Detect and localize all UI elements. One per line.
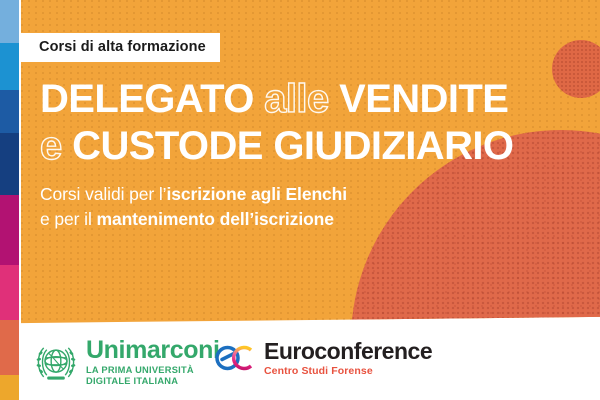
subtitle-line-2-bold: mantenimento dell’iscrizione: [97, 209, 334, 229]
logo-footer: Unimarconi LA PRIMA UNIVERSITÀ DIGITALE …: [0, 326, 600, 400]
unimarconi-wordmark: Unimarconi LA PRIMA UNIVERSITÀ DIGITALE …: [86, 338, 220, 387]
euroconference-ec-mark-icon: [214, 343, 256, 373]
headline-word-vendite: VENDITE: [339, 77, 508, 121]
unimarconi-tagline-line-1: LA PRIMA UNIVERSITÀ: [86, 366, 220, 375]
left-color-strip: [0, 0, 19, 400]
color-band-blue: [0, 43, 19, 90]
color-band-light-blue: [0, 0, 19, 43]
unimarconi-name: Unimarconi: [86, 338, 220, 363]
euroconference-tagline: Centro Studi Forense: [264, 366, 432, 377]
headline: DELEGATO alle VENDITE e CUSTODE GIUDIZIA…: [40, 76, 580, 170]
euroconference-name: Euroconference: [264, 340, 432, 363]
color-band-navy: [0, 133, 19, 195]
headline-word-delegato: DELEGATO: [40, 77, 254, 121]
subtitle-line-1: Corsi validi per l’iscrizione agli Elenc…: [40, 182, 510, 207]
subtitle-line-1-bold: iscrizione agli Elenchi: [166, 184, 347, 204]
category-badge: Corsi di alta formazione: [21, 33, 220, 62]
subtitle-line-2-regular: e per il: [40, 209, 97, 229]
unimarconi-logo: Unimarconi LA PRIMA UNIVERSITÀ DIGITALE …: [34, 338, 220, 387]
banner-content: Corsi di alta formazione DELEGATO alle V…: [21, 0, 600, 326]
subtitle-line-2: e per il mantenimento dell’iscrizione: [40, 207, 510, 232]
unimarconi-tagline-line-2: DIGITALE ITALIANA: [86, 377, 220, 386]
color-band-pink: [0, 265, 19, 320]
euroconference-logo: Euroconference Centro Studi Forense: [214, 340, 432, 377]
color-band-medium-blue: [0, 90, 19, 133]
headline-words-custode-giudiziario: CUSTODE GIUDIZIARIO: [72, 124, 513, 168]
headline-word-alle: alle: [264, 77, 328, 121]
color-band-magenta: [0, 195, 19, 265]
color-band-orange-red: [0, 320, 19, 375]
headline-word-e: e: [40, 124, 62, 168]
color-band-amber: [0, 375, 19, 400]
euroconference-wordmark: Euroconference Centro Studi Forense: [264, 340, 432, 377]
unimarconi-globe-emblem-icon: [34, 340, 78, 384]
headline-line-1: DELEGATO alle VENDITE: [40, 76, 580, 123]
promotional-banner: Corsi di alta formazione DELEGATO alle V…: [0, 0, 600, 400]
subtitle-line-1-regular: Corsi validi per l’: [40, 184, 166, 204]
headline-line-2: e CUSTODE GIUDIZIARIO: [40, 123, 580, 170]
subtitle: Corsi validi per l’iscrizione agli Elenc…: [40, 182, 510, 232]
